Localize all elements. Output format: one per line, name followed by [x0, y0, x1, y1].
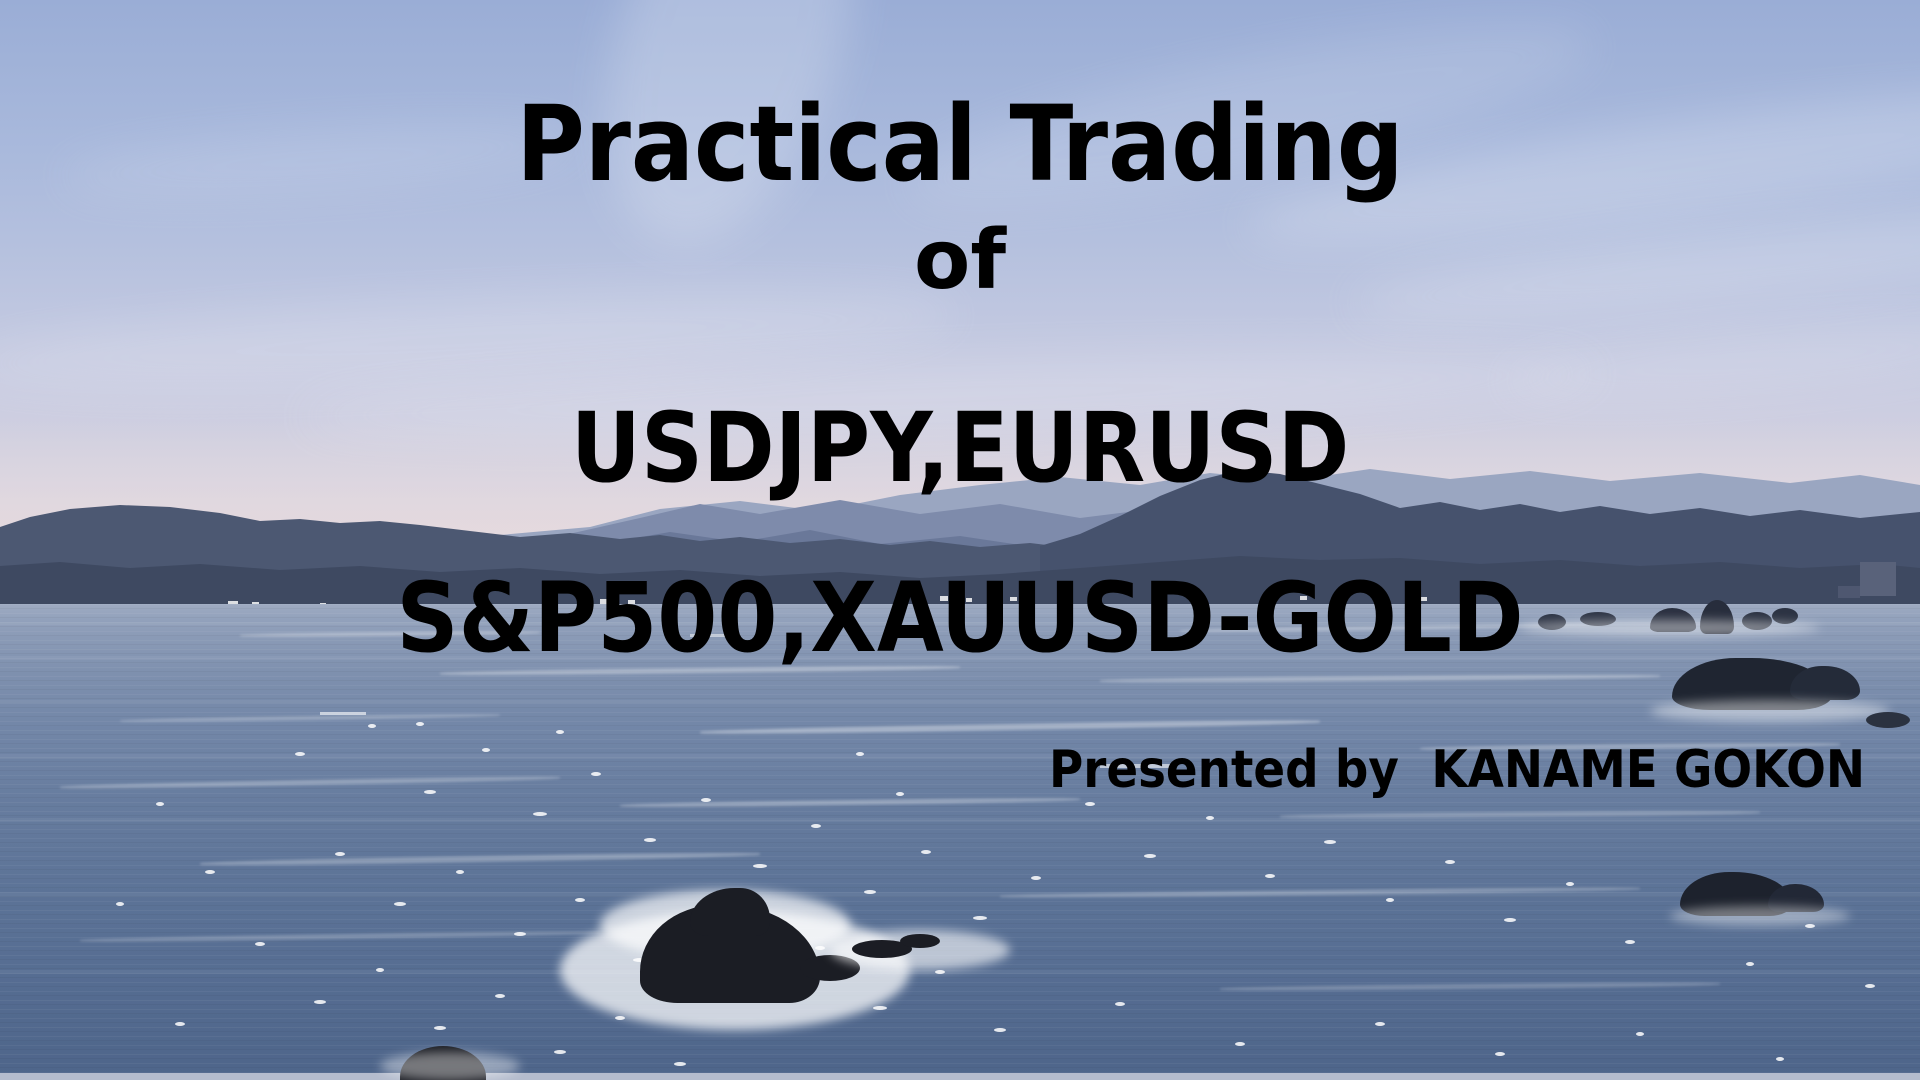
presenter-credit: Presented by KANAME GOKON [0, 744, 1865, 796]
slide-title-connector: of [0, 220, 1920, 302]
slide-subtitle-currency-pairs: USDJPY,EURUSD [0, 400, 1920, 496]
title-slide: Practical Trading of USDJPY,EURUSD S&P50… [0, 0, 1920, 1080]
slide-subtitle-indices: S&P500,XAUUSD-GOLD [0, 570, 1920, 666]
slide-text-layer: Practical Trading of USDJPY,EURUSD S&P50… [0, 0, 1920, 1080]
slide-title: Practical Trading [0, 92, 1920, 196]
